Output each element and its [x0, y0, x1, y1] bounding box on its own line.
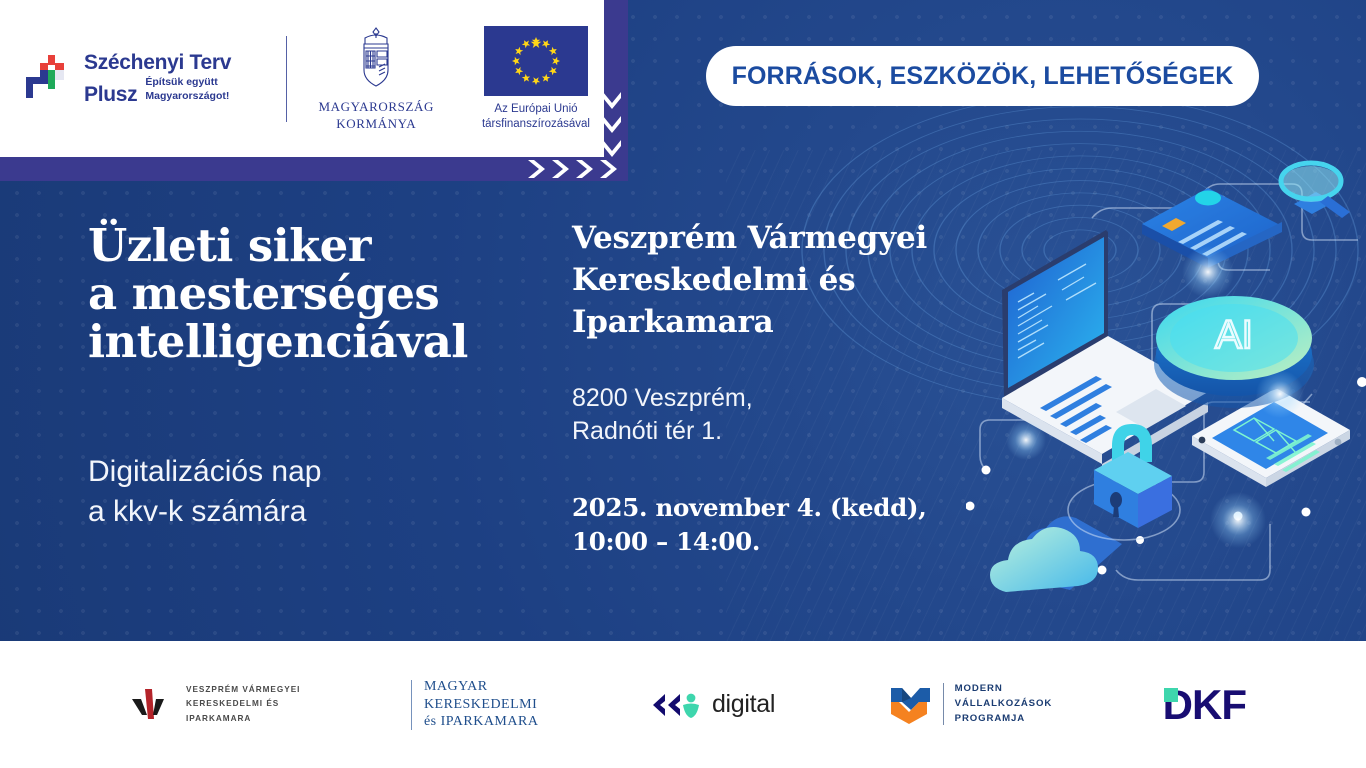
tagline-pill: FORRÁSOK, ESZKÖZÖK, LEHETŐSÉGEK — [706, 46, 1259, 106]
mkik-line-3: és IPARKAMARA — [424, 713, 539, 731]
chevron-right-icon — [572, 158, 594, 180]
mvp-line-3: PROGRAMJA — [955, 712, 1053, 727]
digital-logo: digital — [649, 690, 775, 720]
datetime-line-1: 2025. november 4. (kedd), — [572, 491, 972, 525]
eu-cofinancing-logo: Az Európai Unió társfinanszírozásával — [468, 26, 604, 132]
mkik-divider — [411, 680, 412, 730]
headline-line-1: Üzleti siker — [88, 222, 528, 270]
page-title: Üzleti siker a mesterséges intelligenciá… — [88, 222, 528, 366]
left-text-column: Üzleti siker a mesterséges intelligenciá… — [88, 222, 528, 532]
szechenyi-plus-cross-logo — [18, 51, 74, 107]
eu-caption-line2: társfinanszírozásával — [468, 117, 604, 132]
szechenyi-line1: Széchenyi Terv — [84, 52, 262, 73]
szechenyi-line2: Plusz — [84, 84, 137, 105]
subheadline-line-1: Digitalizációs nap — [88, 452, 528, 492]
chevron-right-group — [524, 158, 618, 180]
header-accent-band-horizontal — [0, 157, 604, 181]
vkik-line-1: VESZPRÉM VÁRMEGYEI — [186, 683, 300, 697]
mvp-mark — [886, 682, 932, 726]
venue-line-1: Veszprém Vármegyei — [572, 218, 972, 260]
mkik-line-1: MAGYAR — [424, 678, 539, 696]
dkf-accent-square — [1164, 688, 1178, 702]
eu-funding-panel: Széchenyi Terv Plusz Építsük együtt Magy… — [0, 0, 604, 157]
chevron-right-icon — [524, 158, 546, 180]
headline-line-2: a mesterséges — [88, 270, 528, 318]
address-line-1: 8200 Veszprém, — [572, 382, 972, 416]
chevron-down-icon — [600, 88, 624, 110]
chevron-down-icon — [600, 112, 624, 134]
veszprem-chamber-logo: VESZPRÉM VÁRMEGYEI KERESKEDELMI ÉS IPARK… — [130, 683, 300, 726]
event-datetime: 2025. november 4. (kedd), 10:00 – 14:00. — [572, 491, 972, 559]
mkik-line-2: KERESKEDELMI — [424, 696, 539, 714]
venue-name: Veszprém Vármegyei Kereskedelmi és Ipark… — [572, 218, 972, 344]
chevron-down-icon — [600, 136, 624, 158]
dkf-wordmark: DKF — [1163, 681, 1246, 729]
event-details-column: Veszprém Vármegyei Kereskedelmi és Ipark… — [572, 218, 972, 559]
digital-wordmark: digital — [712, 690, 775, 719]
venue-line-2: Kereskedelmi és — [572, 260, 972, 302]
tagline-text: FORRÁSOK, ESZKÖZÖK, LEHETŐSÉGEK — [732, 62, 1234, 91]
address-line-2: Radnóti tér 1. — [572, 415, 972, 449]
subheadline-line-2: a kkv-k számára — [88, 492, 528, 532]
datetime-line-2: 10:00 – 14:00. — [572, 525, 972, 559]
european-union-flag — [484, 26, 588, 96]
eu-caption-line1: Az Európai Unió — [468, 102, 604, 117]
venue-address: 8200 Veszprém, Radnóti tér 1. — [572, 382, 972, 450]
vkik-line-2: KERESKEDELMI ÉS — [186, 697, 300, 711]
chevron-right-icon — [548, 158, 570, 180]
hungarian-government-logo: MAGYARORSZÁG KORMÁNYA — [312, 25, 440, 132]
szechenyi-slogan-line2: Magyarországot! — [145, 90, 229, 102]
chevron-down-group — [600, 88, 624, 158]
mvp-line-2: VÁLLALKOZÁSOK — [955, 697, 1053, 712]
footer-logo-bar: VESZPRÉM VÁRMEGYEI KERESKEDELMI ÉS IPARK… — [0, 641, 1366, 768]
szechenyi-slogan-line1: Építsük együtt — [145, 76, 217, 88]
page-subtitle: Digitalizációs nap a kkv-k számára — [88, 452, 528, 532]
szechenyi-terv-plusz-logo: Széchenyi Terv Plusz Építsük együtt Magy… — [18, 51, 262, 107]
digital-chevron-person-icon — [649, 690, 703, 720]
dkf-logo: DKF — [1163, 681, 1246, 729]
government-caption-line1: MAGYARORSZÁG — [312, 99, 440, 115]
vkik-line-3: IPARKAMARA — [186, 712, 300, 726]
panel-divider — [286, 36, 287, 122]
mvp-line-1: MODERN — [955, 682, 1053, 697]
headline-line-3: intelligenciával — [88, 318, 528, 366]
modern-vallalkozasok-programja-logo: MODERN VÁLLALKOZÁSOK PROGRAMJA — [886, 682, 1053, 727]
veszprem-chamber-mark — [130, 685, 174, 725]
hungary-coat-of-arms — [353, 25, 399, 89]
venue-line-3: Iparkamara — [572, 302, 972, 344]
chevron-right-icon — [596, 158, 618, 180]
government-caption-line2: KORMÁNYA — [312, 116, 440, 132]
poster-canvas: AI — [0, 0, 1366, 768]
mvp-divider — [943, 683, 944, 725]
mkik-logo: MAGYAR KERESKEDELMI és IPARKAMARA — [411, 678, 539, 732]
